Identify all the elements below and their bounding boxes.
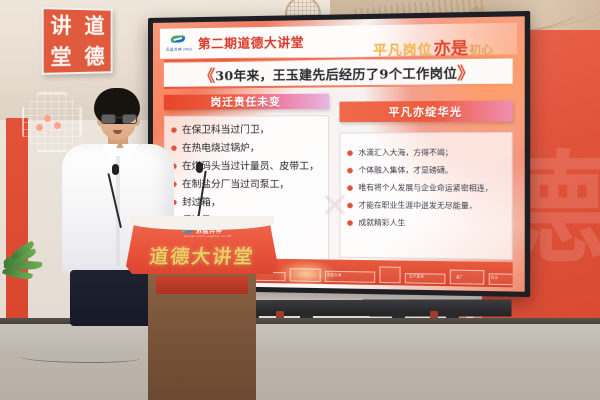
logo-caption: 苏盐井神 JINGSHEN xyxy=(166,46,192,53)
list-item: ● 唯有将个人发展与企业命运紧密相连， xyxy=(347,183,505,195)
bullet-text: 成就精彩人生 xyxy=(358,218,405,229)
bullet-text: 水滴汇入大海，方得不竭； xyxy=(358,148,452,158)
skyline-label: 盐厂 xyxy=(456,274,464,279)
list-item: ● 在保卫科当过门卫， xyxy=(171,124,322,136)
list-item: ● 个体融入集体，才显磅礴。 xyxy=(347,165,505,177)
slide-header: 苏盐井神 JINGSHEN 第二期道德大讲堂 平凡岗位亦是初心 xyxy=(160,23,517,59)
column-left-heading-bar: 岗迁责任未变 xyxy=(164,94,329,110)
skyline-tower xyxy=(379,266,400,283)
microphone-left xyxy=(112,164,119,175)
lattice-blossom-dot-c xyxy=(36,124,43,131)
suyan-jinke-logo-icon xyxy=(168,31,188,46)
list-item: ● 在煤码头当过计量员、皮带工， xyxy=(171,161,322,172)
morality-hall-seal-plaque: 讲 道 堂 德 xyxy=(42,7,113,75)
glasses-lens-right xyxy=(122,114,137,124)
list-item: ● 在制盐分厂当过司泵工， xyxy=(171,179,322,191)
bullet-text: 在保卫科当过门卫， xyxy=(182,125,270,136)
slide-subtitle-bar: 《30年来，王玉建先后经历了9个工作岗位》 xyxy=(164,58,513,86)
glasses-bridge xyxy=(114,117,122,118)
slide-header-title: 第二期道德大讲堂 xyxy=(198,31,304,52)
screenshot-root: 讲 道 堂 德 德 xyxy=(0,0,600,400)
list-item: ● 才能在职业生涯中迸发无尽能量， xyxy=(347,200,505,213)
lectern-top-curve xyxy=(130,216,274,230)
skyline-label: 生产基地 xyxy=(409,273,424,278)
skyline-building xyxy=(290,268,321,282)
list-item: ● 在热电烧过锅炉， xyxy=(171,143,322,154)
bullet-text: 个体融入集体，才显磅礴。 xyxy=(358,165,452,176)
column-right: 平凡亦绽华光 ● 水滴汇入大海，方得不竭； ● 个体融入集体，才显磅礴。 xyxy=(339,92,512,260)
red-wall-stripe xyxy=(6,118,28,343)
lectern-title: 道德大讲堂 xyxy=(125,242,279,269)
bullet-text: 唯有将个人发展与企业命运紧密相连， xyxy=(358,183,492,194)
list-item: ● 封过箱， xyxy=(171,197,322,209)
subtitle-open-bracket: 《 xyxy=(199,62,215,86)
seal-char-2: 道 xyxy=(78,10,111,41)
slide-subtitle: 30年来，王玉建先后经历了9个工作岗位 xyxy=(215,62,457,84)
skyline-building xyxy=(450,270,485,285)
glasses-lens-left xyxy=(101,114,116,124)
bullet-text: 才能在职业生涯中迸发无尽能量， xyxy=(358,200,476,211)
lectern-brand-sub: jiangsu suyan jingshen co.,ltd xyxy=(184,235,232,238)
bullet-text: 在热电烧过锅炉， xyxy=(182,143,260,154)
skyline-label: 制盐车间 xyxy=(327,272,342,277)
lectern: 苏盐井神 jiangsu suyan jingshen co.,ltd 道德大讲… xyxy=(126,218,278,400)
shirt-collar-right xyxy=(122,144,138,160)
bullet-dot-icon: ● xyxy=(347,165,353,176)
seal-char-1: 讲 xyxy=(44,9,78,41)
column-left-heading: 岗迁责任未变 xyxy=(211,94,281,110)
lattice-blossom-dot xyxy=(44,115,51,122)
potted-plant xyxy=(2,240,58,300)
eyeglasses-icon xyxy=(101,114,135,122)
bullet-dot-icon: ● xyxy=(347,148,353,159)
column-right-heading-bar: 平凡亦绽华光 xyxy=(339,100,512,122)
lectern-front-panel xyxy=(156,276,248,294)
seal-char-3: 堂 xyxy=(44,41,78,73)
column-right-body: ● 水滴汇入大海，方得不竭； ● 个体融入集体，才显磅礴。 ● 唯有将个人发展与… xyxy=(339,132,512,260)
list-item: ● 水滴汇入大海，方得不竭； xyxy=(347,148,505,160)
slide-watermark: ✕ xyxy=(320,186,350,227)
column-right-heading: 平凡亦绽华光 xyxy=(388,103,462,119)
list-item: ● 成就精彩人生 xyxy=(347,218,505,231)
skyline-label: 码头 xyxy=(491,274,499,279)
subtitle-close-bracket: 》 xyxy=(457,59,474,84)
microphone-right xyxy=(196,162,203,173)
bullet-text: 在制盐分厂当过司泵工， xyxy=(182,179,289,191)
seal-char-4: 德 xyxy=(78,41,111,72)
